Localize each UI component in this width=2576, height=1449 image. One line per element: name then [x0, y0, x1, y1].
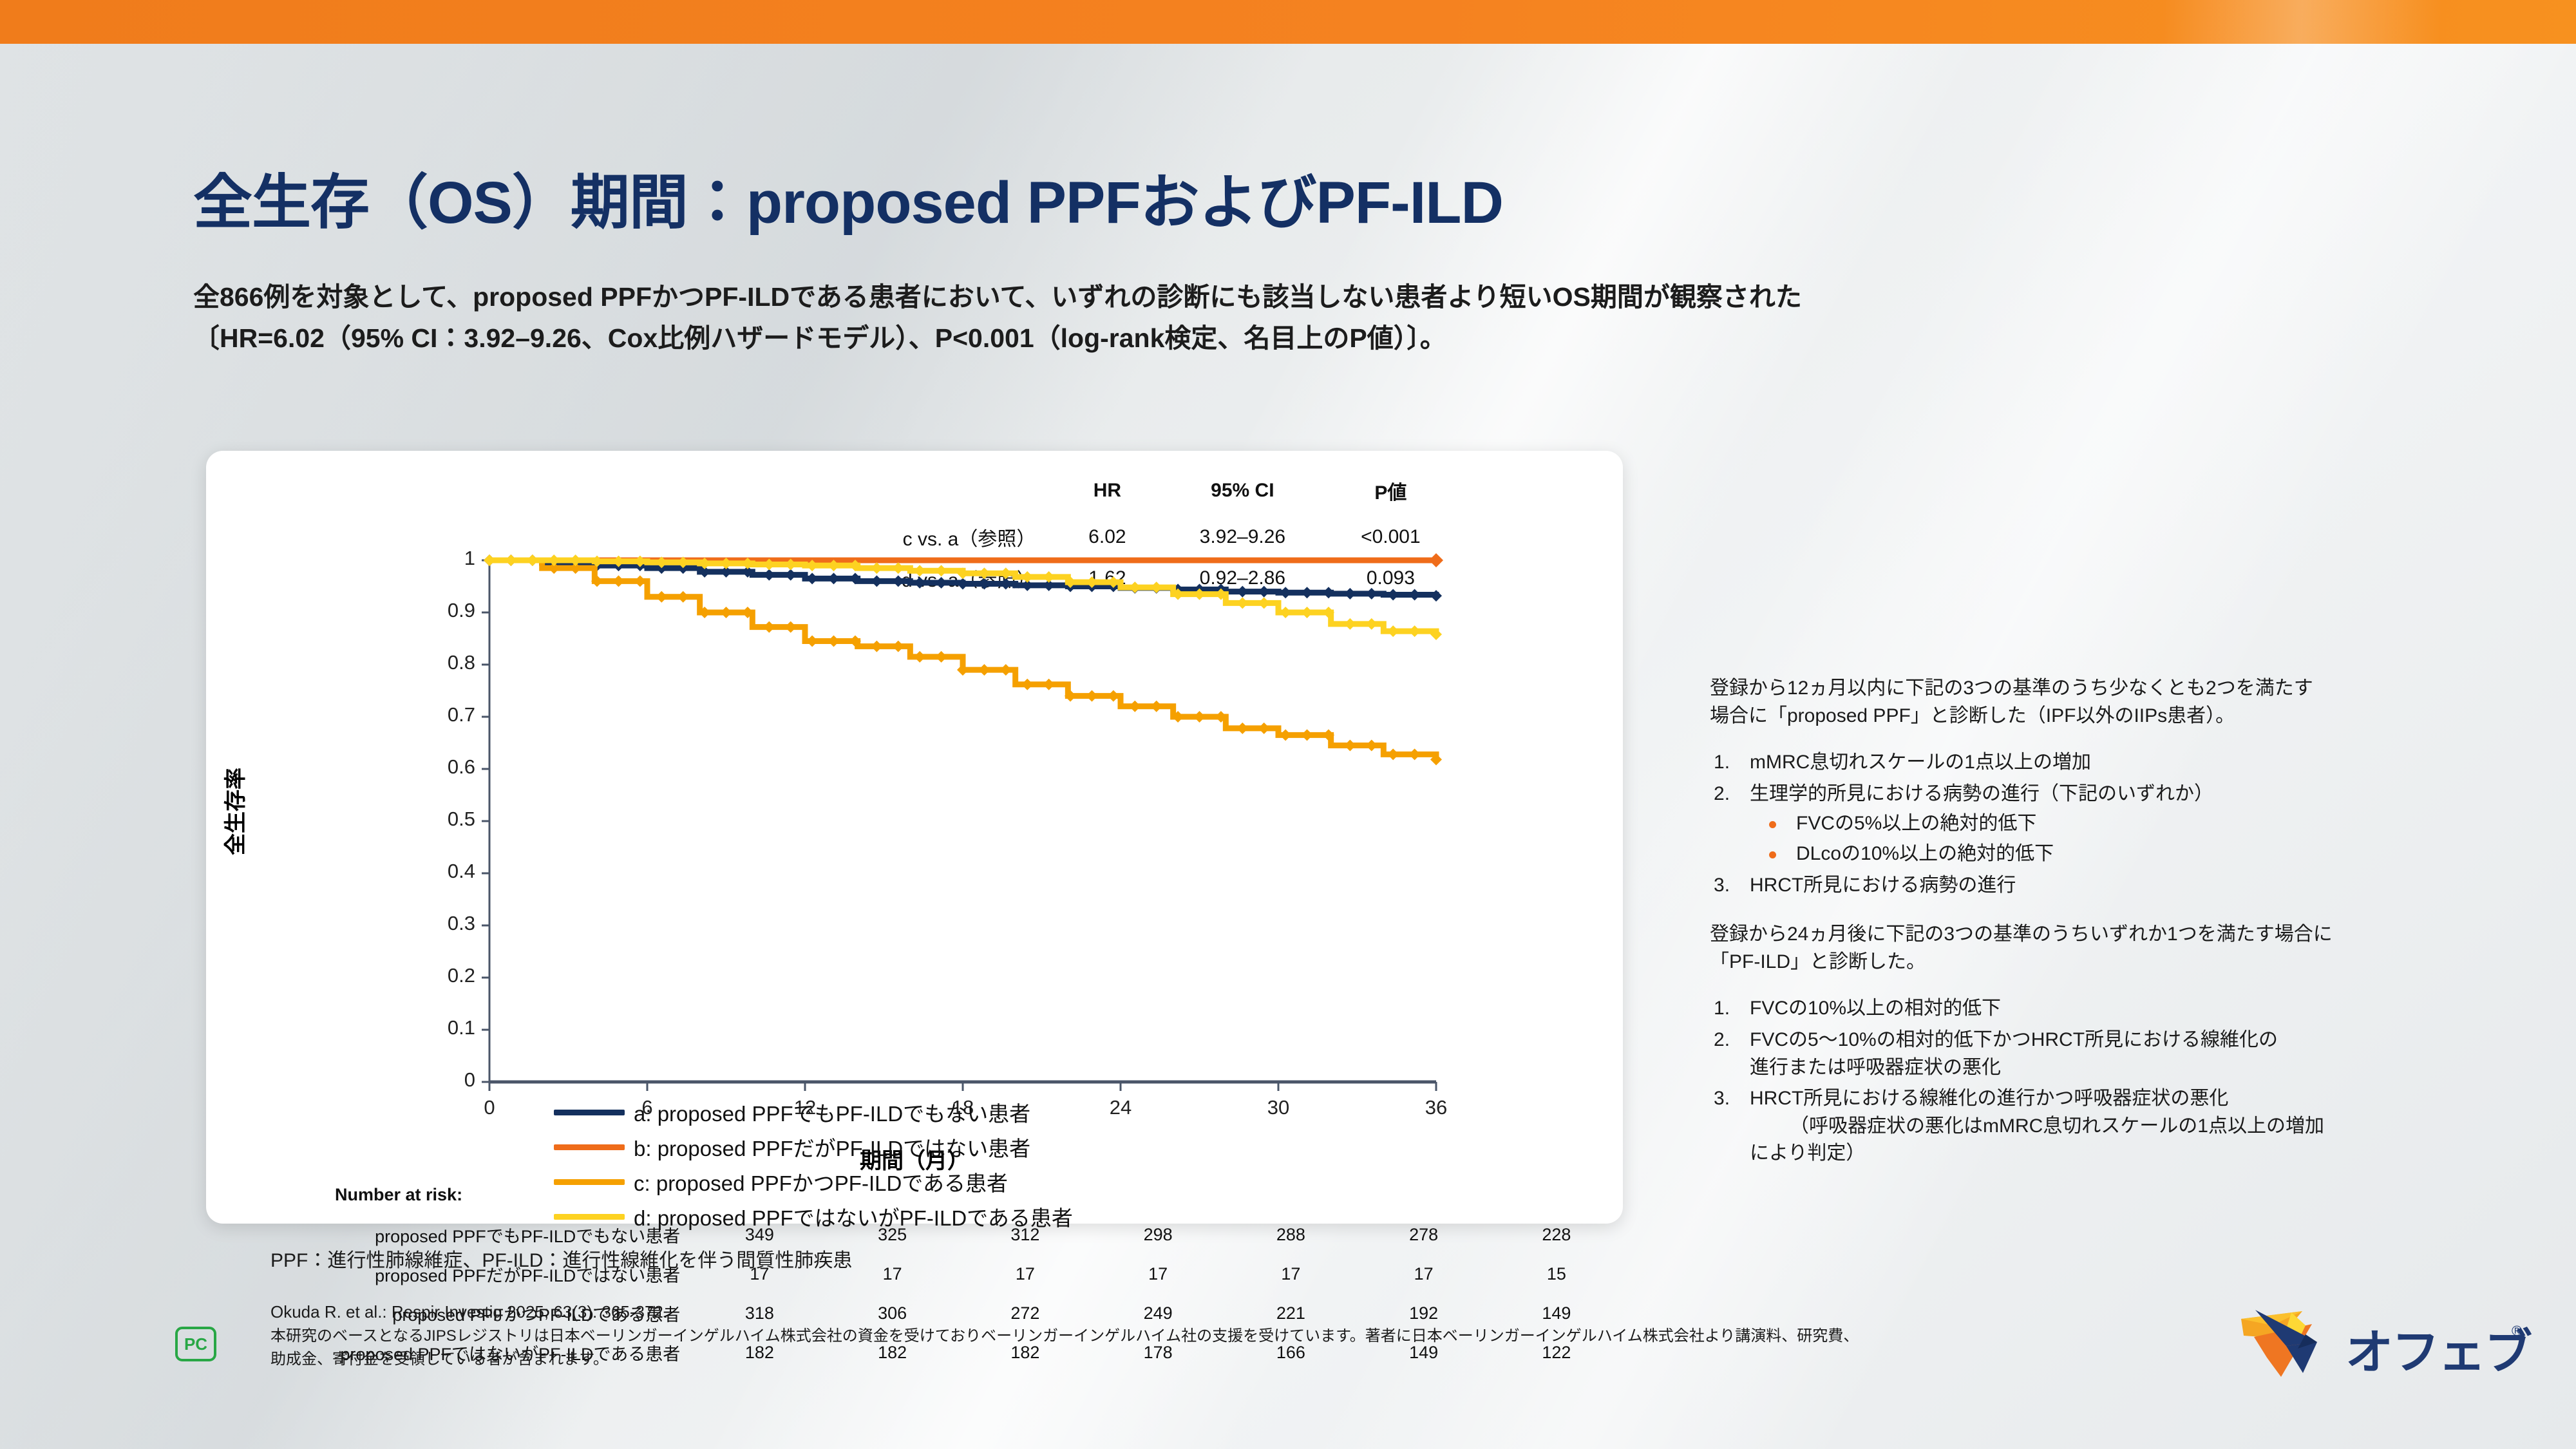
- x-tick-label: 30: [1240, 1096, 1317, 1119]
- y-tick-label: 0.7: [417, 703, 475, 726]
- risk-value: 278: [1358, 1215, 1490, 1255]
- risk-value: 288: [1224, 1215, 1357, 1255]
- pfild-criterion-3: HRCT所見における線維化の進行かつ呼吸器症状の悪化 （呼吸器症状の悪化はmMR…: [1710, 1085, 2541, 1168]
- y-tick-label: 0.4: [417, 860, 475, 883]
- legend-swatch-icon: [554, 1179, 625, 1185]
- disclosure-line-1: 本研究のベースとなるJIPSレジストリは日本ベーリンガーインゲルハイム株式会社の…: [270, 1325, 1859, 1348]
- ppf-criteria-list: mMRC息切れスケールの1点以上の増加 生理学的所見における病勢の進行（下記のい…: [1710, 749, 2541, 899]
- ofev-arrow-icon: [2241, 1298, 2338, 1382]
- risk-value: 17: [1224, 1255, 1357, 1294]
- legend-swatch-icon: [554, 1144, 625, 1150]
- legend-item-b: b: proposed PPFだがPF-ILDではない患者: [554, 1130, 1073, 1164]
- pfild-criterion-2-cont: 進行または呼吸器症状の悪化: [1750, 1054, 2541, 1082]
- pfild-criterion-3-cont-2: により判定）: [1750, 1140, 2541, 1168]
- legend-label: a: proposed PPFでもPF-ILDでもない患者: [634, 1097, 1030, 1128]
- subtitle-line-1: 全866例を対象として、proposed PPFかつPF-ILDである患者におい…: [193, 277, 1802, 318]
- legend-label: b: proposed PPFだがPF-ILDではない患者: [634, 1132, 1030, 1162]
- number-at-risk-heading: Number at risk:: [335, 1185, 1623, 1205]
- pfild-definition-line-1: 登録から24ヵ月後に下記の3つの基準のうちいずれか1つを満たす場合に: [1710, 921, 2541, 949]
- risk-value: 312: [959, 1215, 1092, 1255]
- ppf-criterion-3: HRCT所見における病勢の進行: [1710, 872, 2541, 900]
- subtitle-block: 全866例を対象として、proposed PPFかつPF-ILDである患者におい…: [193, 277, 1802, 359]
- criteria-panel: 登録から12ヵ月以内に下記の3つの基準のうち少なくとも2つを満たす 場合に「pr…: [1710, 675, 2541, 1189]
- risk-value: 228: [1490, 1215, 1623, 1255]
- y-tick-label: 0.8: [417, 651, 475, 674]
- censor-marks-b: [1429, 553, 1443, 567]
- citation-block: Okuda R. et al.: Respir Investig 2025; 6…: [270, 1300, 1859, 1371]
- slide-canvas: 全生存（OS）期間：proposed PPFおよびPF-ILD 全866例を対象…: [0, 0, 2576, 1449]
- ppf-criterion-2: 生理学的所見における病勢の進行（下記のいずれか） FVCの5%以上の絶対的低下 …: [1710, 781, 2541, 868]
- y-tick-label: 0.1: [417, 1016, 475, 1039]
- legend-item-a: a: proposed PPFでもPF-ILDでもない患者: [554, 1095, 1073, 1130]
- legend-swatch-icon: [554, 1110, 625, 1115]
- ppf-subcriterion-fvc: FVCの5%以上の絶対的低下: [1750, 810, 2541, 838]
- pfild-criterion-3-cont-1: （呼吸器症状の悪化はmMRC息切れスケールの1点以上の増加: [1750, 1113, 2541, 1141]
- pc-badge: PC: [175, 1327, 216, 1361]
- abbreviation-footnote: PPF：進行性肺線維症、PF-ILD：進行性線維化を伴う間質性肺疾患: [270, 1244, 852, 1273]
- registered-mark-icon: ®: [2512, 1323, 2522, 1340]
- page-title: 全生存（OS）期間：proposed PPFおよびPF-ILD: [193, 155, 1503, 240]
- risk-value: 15: [1490, 1255, 1623, 1294]
- pfild-criterion-2: FVCの5〜10%の相対的低下かつHRCT所見における線維化の 進行または呼吸器…: [1710, 1027, 2541, 1081]
- pfild-criterion-1: FVCの10%以上の相対的低下: [1710, 995, 2541, 1023]
- ppf-criterion-1: mMRC息切れスケールの1点以上の増加: [1710, 749, 2541, 777]
- subtitle-line-2: 〔HR=6.02（95% CI：3.92–9.26、Cox比例ハザードモデル）、…: [193, 318, 1802, 359]
- top-accent-bar: [0, 0, 2576, 44]
- y-tick-label: 0.9: [417, 599, 475, 622]
- x-tick-label: 24: [1082, 1096, 1159, 1119]
- ppf-criterion-2-sublist: FVCの5%以上の絶対的低下 DLcoの10%以上の絶対的低下: [1750, 810, 2541, 867]
- pfild-definition: 登録から24ヵ月後に下記の3つの基準のうちいずれか1つを満たす場合に 「PF-I…: [1710, 921, 2541, 976]
- pfild-criteria-list: FVCの10%以上の相対的低下 FVCの5〜10%の相対的低下かつHRCT所見に…: [1710, 995, 2541, 1168]
- product-logo: オフェブ ®: [2241, 1294, 2544, 1385]
- y-tick-label: 1: [417, 547, 475, 570]
- ppf-subcriterion-dlco: DLcoの10%以上の絶対的低下: [1750, 840, 2541, 868]
- ppf-definition: 登録から12ヵ月以内に下記の3つの基準のうち少なくとも2つを満たす 場合に「pr…: [1710, 675, 2541, 730]
- y-tick-label: 0.2: [417, 964, 475, 987]
- y-tick-label: 0.5: [417, 808, 475, 831]
- ppf-definition-line-1: 登録から12ヵ月以内に下記の3つの基準のうち少なくとも2つを満たす: [1710, 675, 2541, 703]
- citation-reference: Okuda R. et al.: Respir Investig 2025; 6…: [270, 1300, 1859, 1325]
- y-tick-label: 0.3: [417, 912, 475, 935]
- pfild-definition-line-2: 「PF-ILD」と診断した。: [1710, 949, 2541, 976]
- y-axis-label: 全生存率: [218, 768, 249, 855]
- y-tick-label: 0: [417, 1068, 475, 1092]
- risk-value: 17: [1358, 1255, 1490, 1294]
- risk-value: 17: [1092, 1255, 1224, 1294]
- pfild-criterion-2-text: FVCの5〜10%の相対的低下かつHRCT所見における線維化の: [1750, 1029, 2278, 1050]
- ppf-definition-line-2: 場合に「proposed PPF」と診断した（IPF以外のIIPs患者）。: [1710, 703, 2541, 730]
- y-tick-label: 0.6: [417, 755, 475, 779]
- risk-value: 298: [1092, 1215, 1224, 1255]
- pfild-criterion-3-text: HRCT所見における線維化の進行かつ呼吸器症状の悪化: [1750, 1088, 2228, 1109]
- product-logo-text: オフェブ: [2345, 1314, 2531, 1383]
- ppf-criterion-2-text: 生理学的所見における病勢の進行（下記のいずれか）: [1750, 783, 2213, 804]
- risk-value: 17: [959, 1255, 1092, 1294]
- x-tick-label: 36: [1397, 1096, 1475, 1119]
- x-tick-label: 0: [451, 1096, 528, 1119]
- disclosure-line-2: 助成金、寄付金を受領している者が含まれます。: [270, 1348, 1859, 1371]
- chart-card: HR 95% CI P値 c vs. a（参照） 6.02 3.92–9.26 …: [206, 451, 1623, 1224]
